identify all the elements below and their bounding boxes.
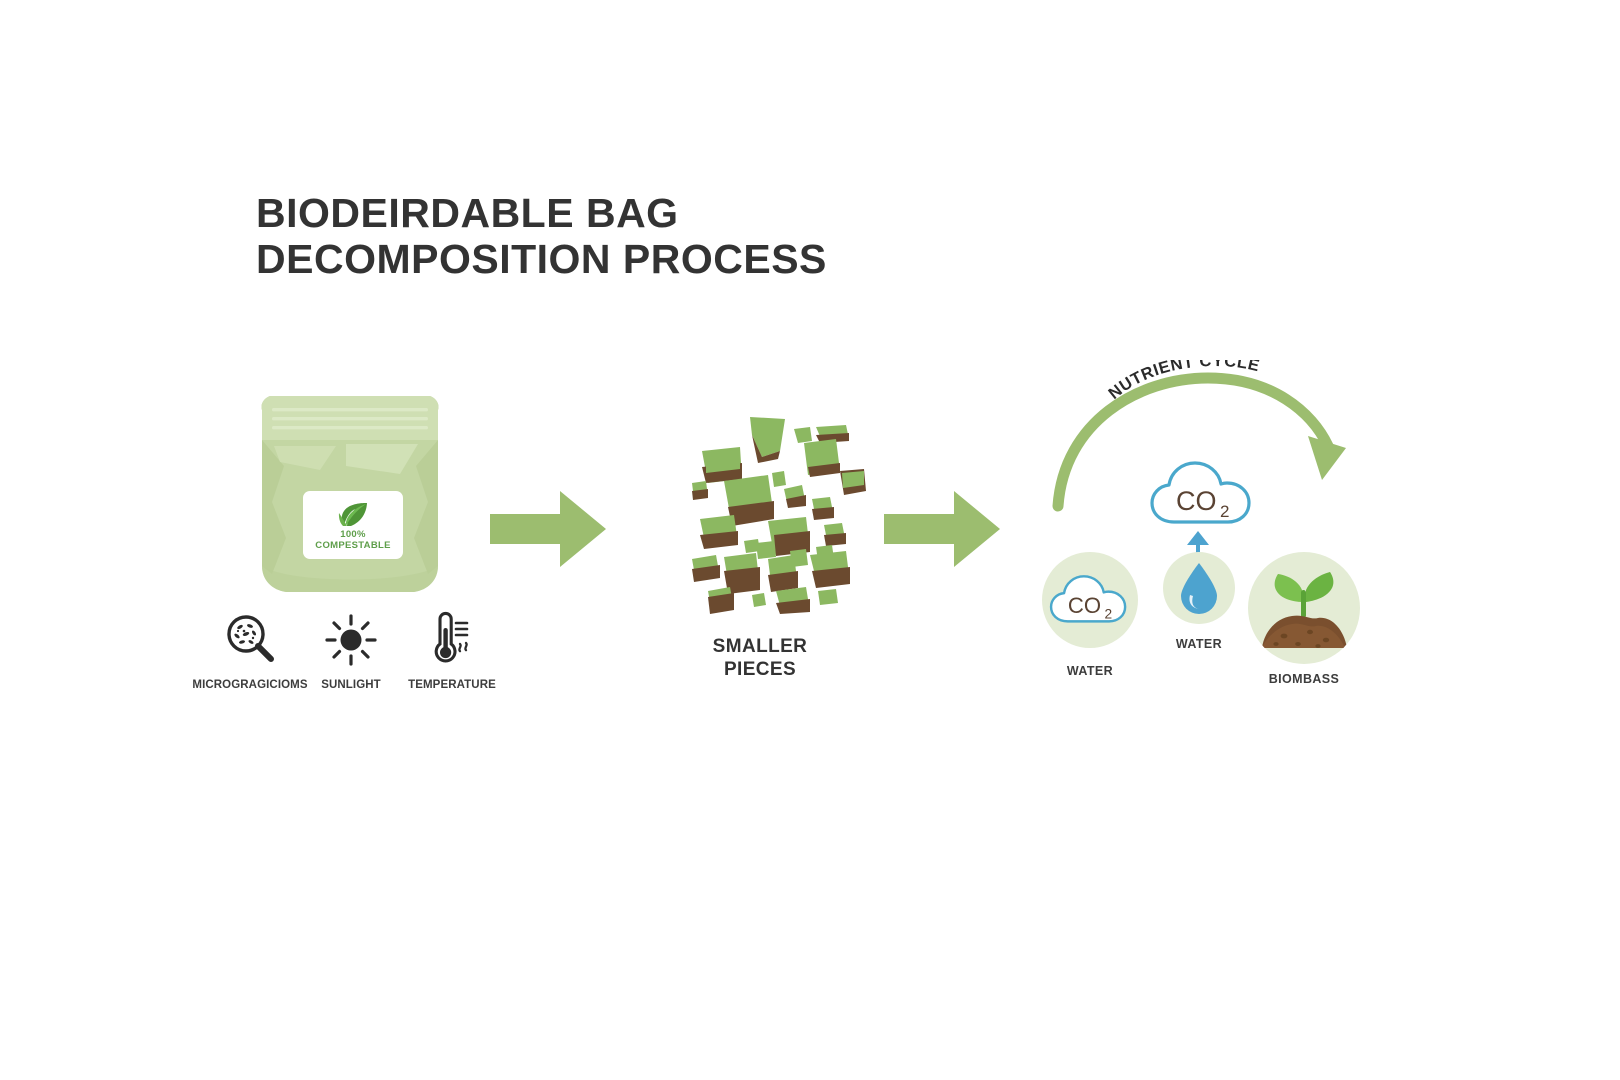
pieces-caption-line-1: SMALLER <box>650 635 870 658</box>
co2-cloud-top-text: CO <box>1176 486 1217 516</box>
co2-cloud-icon: CO 2 <box>1148 460 1258 528</box>
outcome-co2-label: WATER <box>1067 664 1113 678</box>
factor-label-temperature: TEMPERATURE <box>408 679 496 691</box>
outcome-co2: CO 2 WATER <box>1042 552 1138 678</box>
bag-label-percent: 100% <box>340 529 366 541</box>
page-title: BIODEIRDABLE BAG DECOMPOSITION PROCESS <box>256 190 976 282</box>
bag-label-badge: 100% COMPESTABLE <box>303 491 403 559</box>
stage-smaller-pieces: SMALLER PIECES <box>650 395 870 695</box>
water-drop-icon <box>1178 561 1220 615</box>
factor-microorganisms: MICROGRAGICIOMS <box>200 610 300 691</box>
outcome-biomass: BIOMBASS <box>1248 552 1360 686</box>
outcome-co2-circle: CO 2 <box>1042 552 1138 648</box>
factor-label-microorganisms: MICROGRAGICIOMS <box>192 679 307 691</box>
factor-temperature: TEMPERATURE <box>402 610 502 691</box>
stage-nutrient-cycle: NUTRIENT CYCLE CO 2 CO 2 <box>1030 360 1400 700</box>
sprout-soil-icon <box>1252 556 1356 660</box>
pieces-caption: SMALLER PIECES <box>650 635 870 681</box>
outcome-co2-subscript: 2 <box>1105 606 1113 621</box>
title-line-2: DECOMPOSITION PROCESS <box>256 236 976 282</box>
bag-illustration <box>250 370 450 600</box>
co2-cloud-icon-small: CO 2 <box>1048 573 1132 627</box>
outcome-biomass-circle <box>1248 552 1360 664</box>
outcome-water-label: WATER <box>1176 637 1222 651</box>
stage-compostable-bag: 100% COMPESTABLE <box>186 370 516 715</box>
fragments-illustration <box>650 395 870 615</box>
outcome-biomass-label: BIOMBASS <box>1269 672 1340 686</box>
co2-cloud-top: CO 2 <box>1148 460 1258 528</box>
factor-sunlight: SUNLIGHT <box>301 610 401 691</box>
leaf-icon <box>336 499 370 529</box>
outcome-water-circle <box>1163 552 1235 624</box>
thermometer-icon <box>424 610 480 666</box>
right-arrow-icon-1 <box>490 487 606 571</box>
bag-label-word: COMPESTABLE <box>315 540 390 552</box>
outcome-water: WATER <box>1163 552 1235 651</box>
right-arrow-icon-2 <box>884 487 1000 571</box>
factor-label-sunlight: SUNLIGHT <box>321 679 381 691</box>
title-line-1: BIODEIRDABLE BAG <box>256 190 976 236</box>
outcome-co2-text: CO <box>1068 593 1101 618</box>
sun-icon <box>325 610 377 666</box>
decomposition-factors: MICROGRAGICIOMS <box>186 610 516 691</box>
pieces-caption-line-2: PIECES <box>650 658 870 681</box>
microscope-magnifier-icon <box>223 610 277 666</box>
infographic-canvas: BIODEIRDABLE BAG DECOMPOSITION PROCESS <box>0 0 1620 1080</box>
co2-cloud-top-subscript: 2 <box>1220 502 1229 521</box>
